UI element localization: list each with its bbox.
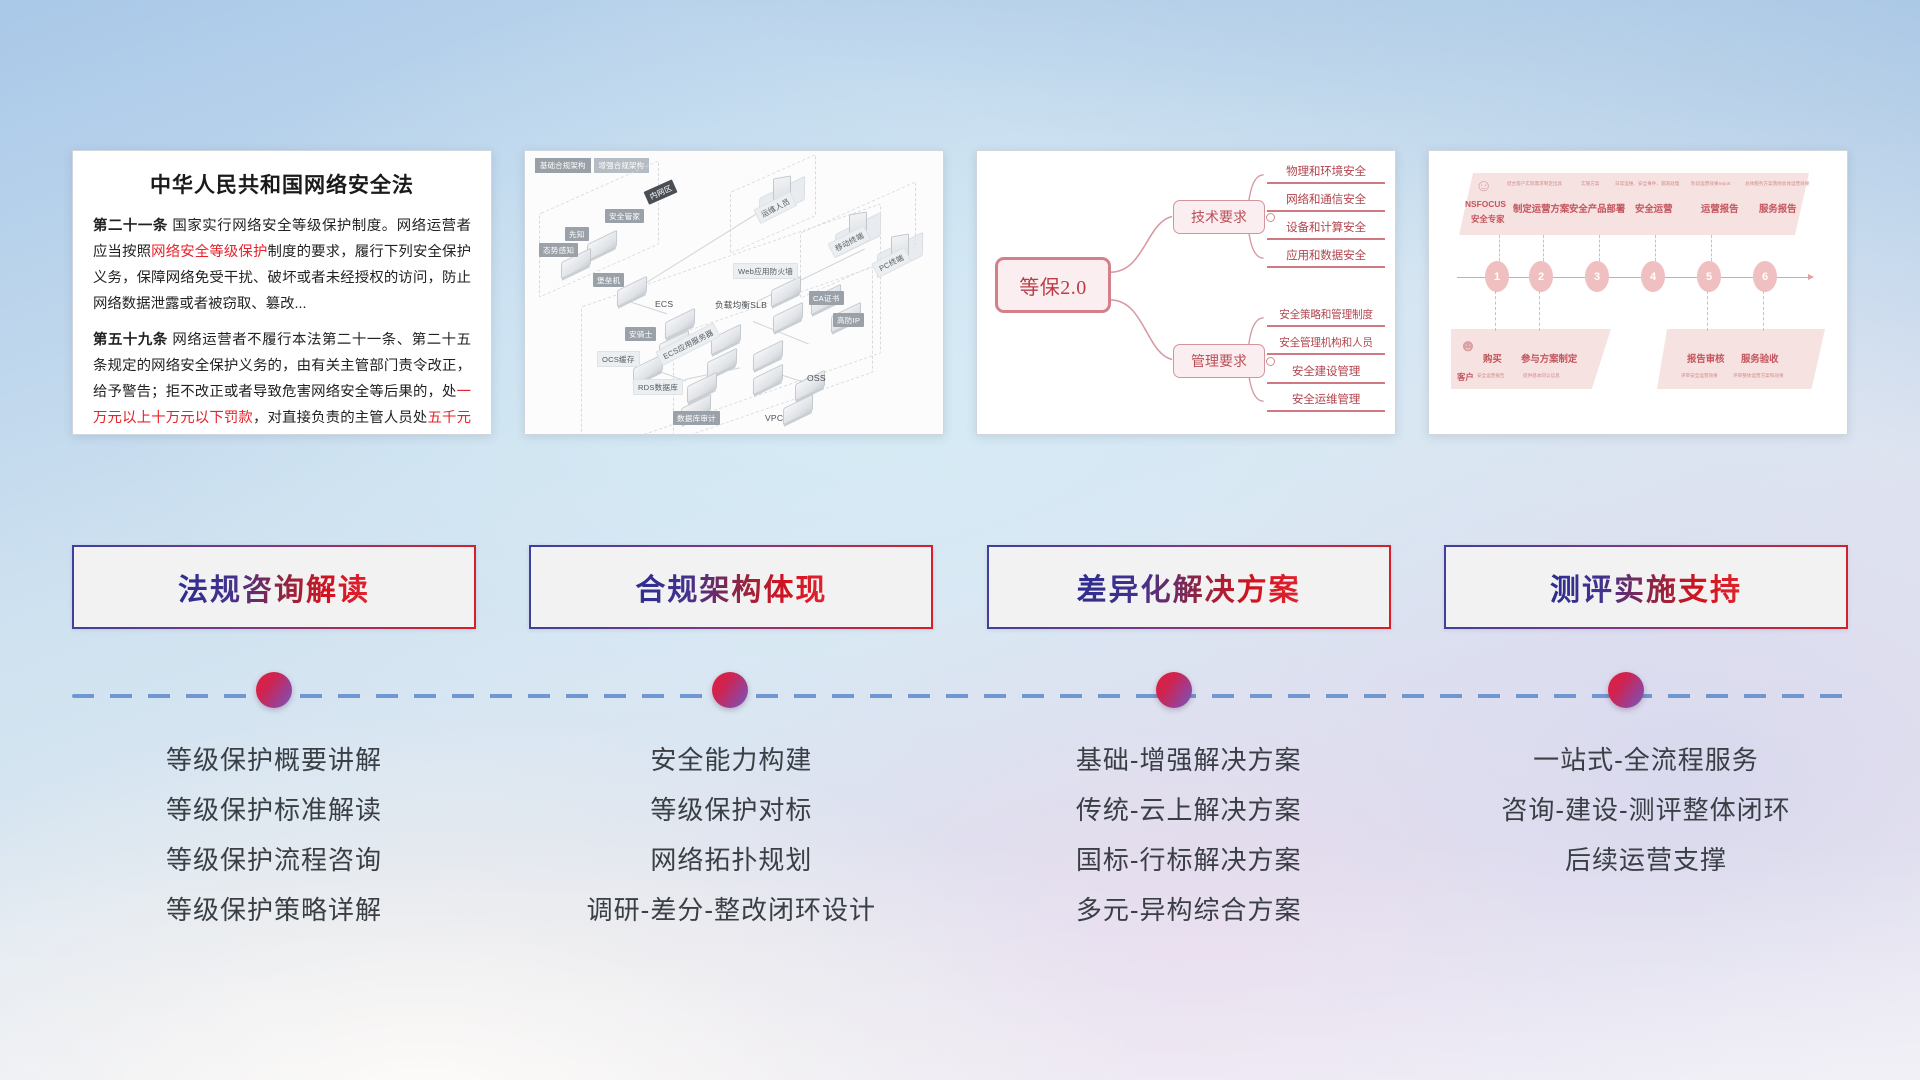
flow-tick: [1655, 235, 1656, 261]
flow-step-node[interactable]: 2: [1529, 261, 1553, 292]
flow-bottom-sub: 评审整体运营方案和效果: [1733, 373, 1784, 379]
architecture-diagram: 基础合规架构 增强合规架构: [525, 151, 943, 434]
card-cybersecurity-law[interactable]: 中华人民共和国网络安全法 第二十一条 国家实行网络安全等级保护制度。网络运营者应…: [72, 150, 492, 435]
mindmap-branch-management[interactable]: 管理要求: [1173, 344, 1265, 378]
flow-bottom-sub: 提供基本同认信息: [1523, 373, 1560, 379]
brand-subtitle: 安全专家: [1471, 213, 1505, 225]
flow-bottom-main: 购买: [1483, 351, 1502, 365]
architecture-tabs: 基础合规架构 增强合规架构: [535, 158, 649, 173]
flow-bottom-sub: 安全运营报告: [1477, 373, 1505, 379]
customer-label: 客户: [1457, 371, 1474, 383]
mindmap-leaf[interactable]: 网络和通信安全: [1267, 191, 1385, 212]
customer-person-icon: ☻: [1459, 337, 1477, 354]
arch-label-ocs: OCS缓存: [597, 351, 640, 367]
law-paragraph-59: 第五十九条 网络运营者不履行本法第二十一条、第二十五条规定的网络安全保护义务的，…: [93, 327, 471, 435]
list-item[interactable]: 后续运营支撑: [1444, 835, 1848, 885]
mindmap-root-node[interactable]: 等保2.0: [995, 257, 1111, 313]
arch-label-ca: CA证书: [809, 291, 844, 305]
flow-top-sub: 实施方案: [1581, 181, 1599, 187]
arch-label-bastion: 堡垒机: [593, 273, 624, 287]
slide-root: 中华人民共和国网络安全法 第二十一条 国家实行网络安全等级保护制度。网络运营者应…: [0, 0, 1920, 1080]
timeline-dot-4[interactable]: [1608, 672, 1644, 708]
flow-tick: [1495, 291, 1496, 331]
flow-tick: [1707, 291, 1708, 331]
arch-tab-basic[interactable]: 基础合规架构: [535, 158, 591, 173]
arch-label-ecs: ECS: [655, 299, 673, 309]
list-item[interactable]: 安全能力构建: [529, 735, 933, 785]
card-service-flow[interactable]: ☺ NSFOCUS 安全专家 结合客户实际需求制定出具 制定运营方案 实施方案 …: [1428, 150, 1848, 435]
arch-label-anqishi: 安骑士: [625, 327, 656, 341]
flow-top-main: 制定运营方案: [1513, 201, 1569, 215]
list-item[interactable]: 等级保护对标: [529, 785, 933, 835]
section-title-label: 法规咨询解读: [178, 565, 370, 609]
arch-label-situational: 态势感知: [539, 243, 578, 257]
arch-label-vpc: VPC: [765, 413, 783, 423]
card-cloud-architecture[interactable]: 基础合规架构 增强合规架构: [524, 150, 944, 435]
flow-top-main: 安全产品部署: [1569, 201, 1625, 215]
list-item[interactable]: 等级保护策略详解: [72, 885, 476, 935]
arch-label-xianzhi: 先知: [565, 227, 589, 241]
arch-label-rds: RDS数据库: [633, 379, 683, 395]
flow-bottom-main: 服务验收: [1741, 351, 1779, 365]
section-title-box-4[interactable]: 测评实施支持: [1444, 545, 1848, 629]
arch-label-ddos: 高防IP: [833, 313, 864, 327]
section-title-box-1[interactable]: 法规咨询解读: [72, 545, 476, 629]
mindmap-leaf[interactable]: 安全管理机构和人员: [1267, 335, 1385, 355]
mindmap-leaf[interactable]: 安全策略和管理制度: [1267, 307, 1385, 327]
flow-step-node[interactable]: 4: [1641, 261, 1665, 292]
section-list-3: 基础-增强解决方案 传统-云上解决方案 国标-行标解决方案 多元-异构综合方案: [987, 735, 1391, 935]
mindmap-leaf[interactable]: 物理和环境安全: [1267, 163, 1385, 184]
flow-tick: [1763, 291, 1764, 331]
timeline-dot-1[interactable]: [256, 672, 292, 708]
list-item[interactable]: 调研-差分-整改闭环设计: [529, 885, 933, 935]
flow-bottom-main: 报告审核: [1687, 351, 1725, 365]
list-item[interactable]: 一站式-全流程服务: [1444, 735, 1848, 785]
mindmap-branch-label: 技术要求: [1191, 207, 1247, 227]
flow-tick: [1539, 291, 1540, 331]
mindmap-leaf[interactable]: 安全运维管理: [1267, 391, 1385, 412]
law-article-number: 第五十九条: [93, 332, 168, 348]
section-title-label: 合规架构体现: [635, 565, 827, 609]
arch-label-slb: 负载均衡SLB: [715, 299, 767, 311]
flow-step-node[interactable]: 5: [1697, 261, 1721, 292]
list-item[interactable]: 传统-云上解决方案: [987, 785, 1391, 835]
flow-tick: [1499, 235, 1500, 261]
section-title-box-2[interactable]: 合规架构体现: [529, 545, 933, 629]
list-item[interactable]: 基础-增强解决方案: [987, 735, 1391, 785]
mindmap-leaf[interactable]: 安全建设管理: [1267, 363, 1385, 384]
card-mindmap-dengbao[interactable]: 等保2.0 技术要求 管理要求 物理和环境安全 网络和通信安全 设备和计算安全 …: [976, 150, 1396, 435]
list-item[interactable]: 等级保护流程咨询: [72, 835, 476, 885]
flow-top-main: 服务报告: [1759, 201, 1797, 215]
flow-top-sub: 结合客户实际需求制定出具: [1507, 181, 1562, 187]
list-item[interactable]: 咨询-建设-测评整体闭环: [1444, 785, 1848, 835]
flow-top-main: 运营报告: [1701, 201, 1739, 215]
list-item[interactable]: 等级保护概要讲解: [72, 735, 476, 785]
timeline-dashed-line: [72, 694, 1848, 698]
flow-step-node[interactable]: 6: [1753, 261, 1777, 292]
flow-step-node[interactable]: 1: [1485, 261, 1509, 292]
arch-label-waf: Web应用防火墙: [733, 263, 798, 279]
mindmap-branch-technical[interactable]: 技术要求: [1173, 200, 1265, 234]
section-lists-row: 等级保护概要讲解 等级保护标准解读 等级保护流程咨询 等级保护策略详解 安全能力…: [0, 735, 1920, 935]
list-item[interactable]: 国标-行标解决方案: [987, 835, 1391, 885]
law-title: 中华人民共和国网络安全法: [93, 169, 471, 199]
mindmap-leaf[interactable]: 应用和数据安全: [1267, 247, 1385, 268]
section-list-2: 安全能力构建 等级保护对标 网络拓扑规划 调研-差分-整改闭环设计: [529, 735, 933, 935]
flow-top-sub: 阶段运营效果report: [1691, 181, 1731, 187]
brand-name: NSFOCUS: [1465, 199, 1506, 209]
law-article-number: 第二十一条: [93, 218, 168, 234]
flow-tick: [1543, 235, 1544, 261]
flow-bottom-main: 参与方案制定: [1521, 351, 1577, 365]
flow-tick: [1711, 235, 1712, 261]
arch-label-db-audit: 数据库审计: [673, 411, 720, 425]
flow-tick: [1599, 235, 1600, 261]
list-item[interactable]: 网络拓扑规划: [529, 835, 933, 885]
section-title-label: 测评实施支持: [1550, 565, 1742, 609]
mindmap-leaf[interactable]: 设备和计算安全: [1267, 219, 1385, 240]
section-title-box-3[interactable]: 差异化解决方案: [987, 545, 1391, 629]
arch-label-oss: OSS: [807, 373, 826, 383]
flow-step-node[interactable]: 3: [1585, 261, 1609, 292]
list-item[interactable]: 等级保护标准解读: [72, 785, 476, 835]
timeline-dot-3[interactable]: [1156, 672, 1192, 708]
timeline-dot-2[interactable]: [712, 672, 748, 708]
law-text-highlight: 网络安全等级保护: [151, 244, 267, 260]
flow-top-sub: 日常运维、安全事件、漏洞处理: [1615, 181, 1679, 187]
flow-top-main: 安全运营: [1635, 201, 1673, 215]
expert-person-icon: ☺: [1475, 177, 1492, 194]
law-text-plain: ，对直接负责的主管人员处: [253, 410, 428, 426]
section-titles-row: 法规咨询解读 合规架构体现 差异化解决方案 测评实施支持: [0, 545, 1920, 629]
preview-cards-row: 中华人民共和国网络安全法 第二十一条 国家实行网络安全等级保护制度。网络运营者应…: [0, 150, 1920, 440]
flow-bottom-sub: 评审安全运营效果: [1681, 373, 1718, 379]
arch-label-security-butler: 安全管家: [605, 209, 644, 223]
flow-top-sub: 总体服务方案落地总体运营效果: [1745, 181, 1809, 187]
mindmap-branch-label: 管理要求: [1191, 351, 1247, 371]
section-list-1: 等级保护概要讲解 等级保护标准解读 等级保护流程咨询 等级保护策略详解: [72, 735, 476, 935]
law-paragraph-21: 第二十一条 国家实行网络安全等级保护制度。网络运营者应当按照网络安全等级保护制度…: [93, 213, 471, 317]
list-item[interactable]: 多元-异构综合方案: [987, 885, 1391, 935]
section-title-label: 差异化解决方案: [1077, 565, 1301, 609]
section-list-4: 一站式-全流程服务 咨询-建设-测评整体闭环 后续运营支撑: [1444, 735, 1848, 935]
